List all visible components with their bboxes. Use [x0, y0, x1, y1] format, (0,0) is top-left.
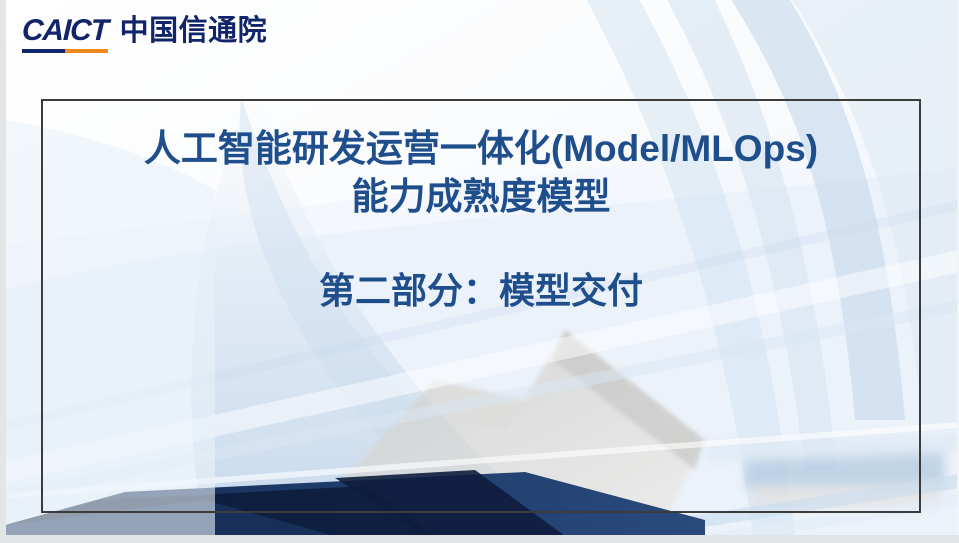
caict-logo-underline: [22, 49, 108, 53]
caict-logo: CAICT 中国信通院: [22, 16, 267, 54]
page-edge-left: [0, 0, 6, 543]
caict-logo-text: CAICT: [21, 16, 108, 46]
organization-name: 中国信通院: [120, 17, 268, 46]
logo-underline-orange-segment: [65, 49, 108, 53]
caict-wordmark: CAICT: [22, 16, 108, 54]
title-line-2: 能力成熟度模型: [43, 173, 919, 221]
slide-title: 人工智能研发运营一体化(Model/MLOps) 能力成熟度模型: [43, 125, 919, 221]
title-line-1: 人工智能研发运营一体化(Model/MLOps): [43, 125, 919, 173]
presentation-slide: CAICT 中国信通院 人工智能研发运营一体化(Model/MLOps) 能力成…: [0, 0, 959, 543]
slide-subtitle: 第二部分：模型交付: [43, 268, 919, 314]
logo-underline-navy-segment: [22, 49, 65, 53]
page-edge-bottom: [0, 535, 959, 543]
